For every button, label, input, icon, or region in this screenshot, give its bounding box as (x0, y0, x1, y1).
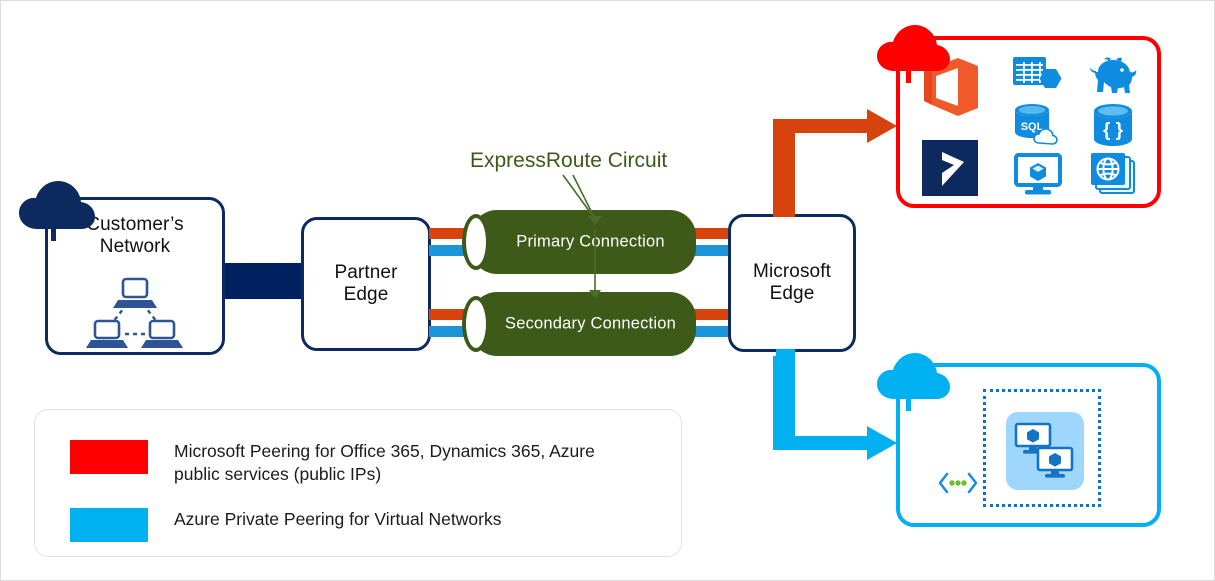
legend-panel: Microsoft Peering for Office 365, Dynami… (34, 409, 682, 557)
virtual-machine-icon (1013, 152, 1063, 196)
legend-swatch-private-peering (70, 508, 148, 542)
three-computers-network-icon (87, 278, 183, 352)
brand-icon-column (922, 56, 984, 196)
vnet-peering-connector-icon (938, 471, 978, 495)
web-apps-globe-icon (1088, 152, 1138, 196)
private-peering-arrow (773, 356, 908, 471)
customer-to-partner-link (225, 263, 303, 299)
svg-text:{ }: { } (1102, 120, 1123, 141)
legend-label-microsoft-peering: Microsoft Peering for Office 365, Dynami… (174, 440, 644, 486)
legend-item-private-peering: Azure Private Peering for Virtual Networ… (70, 508, 501, 542)
azure-table-storage-icon (1012, 55, 1064, 97)
legend-label-private-peering: Azure Private Peering for Virtual Networ… (174, 508, 501, 531)
azure-public-services-panel[interactable]: SQL { } (896, 36, 1161, 208)
customer-network-node[interactable]: Customer’s Network (45, 197, 225, 355)
customer-network-label: Customer’s Network (86, 214, 183, 258)
microsoft-edge-label: Microsoft Edge (753, 261, 831, 305)
legend-item-microsoft-peering: Microsoft Peering for Office 365, Dynami… (70, 440, 644, 486)
expressroute-diagram-canvas: Customer’s Network (0, 0, 1215, 581)
secondary-connection-label: Secondary Connection (471, 315, 696, 334)
partner-edge-node[interactable]: Partner Edge (301, 217, 431, 351)
office-365-icon (922, 56, 980, 118)
dynamics-365-icon (922, 140, 978, 196)
azure-sql-database-icon: SQL (1012, 103, 1064, 147)
subnet-dotted-box (983, 389, 1101, 507)
legend-swatch-microsoft-peering (70, 440, 148, 474)
microsoft-edge-node[interactable]: Microsoft Edge (728, 214, 856, 352)
virtual-network-panel[interactable] (896, 363, 1161, 527)
microsoft-peering-arrow (773, 109, 908, 219)
virtual-machine-icon (1036, 446, 1078, 480)
hdinsight-hadoop-elephant-icon (1088, 56, 1138, 96)
virtual-machines-tile-icon (1006, 412, 1084, 490)
partner-edge-label: Partner Edge (334, 262, 397, 306)
cosmos-db-icon: { } (1090, 103, 1136, 147)
expressroute-circuit-label: ExpressRoute Circuit (470, 149, 667, 173)
expressroute-circuit-pointer-arrows (561, 173, 631, 308)
azure-service-icon-grid: SQL { } (1000, 52, 1150, 198)
